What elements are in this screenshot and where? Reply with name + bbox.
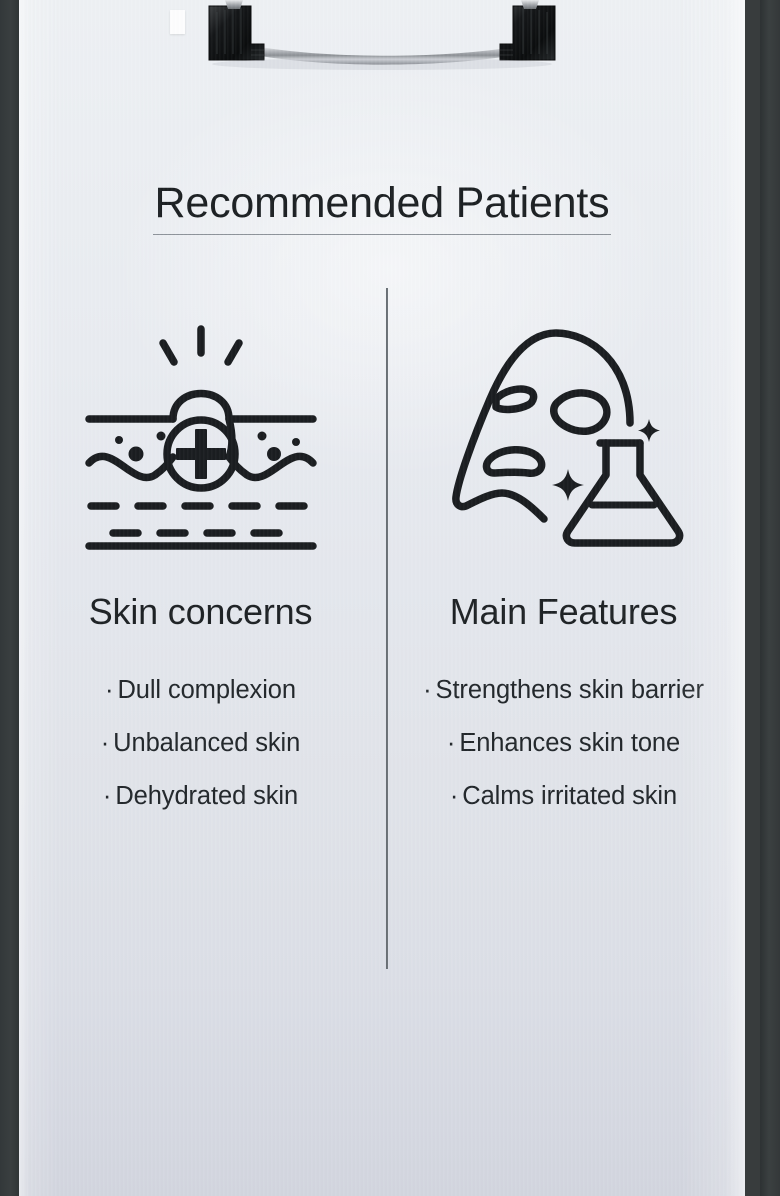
- bullet-marker: ·: [423, 676, 431, 704]
- list-item: ·Calms irritated skin: [450, 782, 677, 810]
- column-title-skin-concerns: Skin concerns: [89, 594, 313, 630]
- column-skin-concerns: Skin concerns ·Dull complexion ·Unbalanc…: [19, 288, 382, 810]
- clipboard-clip: [19, 0, 745, 96]
- list-item-label: Unbalanced skin: [113, 729, 300, 757]
- clipboard-clip-icon: [19, 0, 745, 96]
- main-features-icon-box: [444, 288, 684, 588]
- list-item-label: Calms irritated skin: [462, 782, 677, 810]
- bullet-marker: ·: [105, 676, 113, 704]
- columns-container: Skin concerns ·Dull complexion ·Unbalanc…: [19, 288, 745, 810]
- list-item: ·Dull complexion: [105, 676, 296, 704]
- main-features-list: ·Strengthens skin barrier ·Enhances skin…: [423, 676, 704, 810]
- column-title-main-features: Main Features: [450, 594, 678, 630]
- page-title: Recommended Patients: [153, 182, 612, 235]
- list-item-label: Dehydrated skin: [115, 782, 298, 810]
- list-item-label: Dull complexion: [117, 676, 296, 704]
- left-edge-bar: [0, 0, 20, 1196]
- bullet-marker: ·: [103, 782, 111, 810]
- bullet-marker: ·: [447, 729, 455, 757]
- column-main-features: Main Features ·Strengthens skin barrier …: [382, 288, 745, 810]
- sheet-mask-flask-icon: [444, 323, 684, 553]
- bullet-marker: ·: [450, 782, 458, 810]
- list-item: ·Enhances skin tone: [447, 729, 680, 757]
- list-item: ·Unbalanced skin: [101, 729, 300, 757]
- page-root: Recommended Patients: [0, 0, 780, 1196]
- skin-concerns-icon-box: [81, 288, 321, 588]
- page-title-wrap: Recommended Patients: [19, 182, 745, 235]
- right-edge-bar: [760, 0, 780, 1196]
- list-item: ·Dehydrated skin: [103, 782, 298, 810]
- skin-concerns-list: ·Dull complexion ·Unbalanced skin ·Dehyd…: [101, 676, 300, 810]
- list-item-label: Enhances skin tone: [459, 729, 680, 757]
- list-item-label: Strengthens skin barrier: [436, 676, 704, 704]
- paper-corner-tab: [170, 10, 185, 34]
- list-item: ·Strengthens skin barrier: [423, 676, 704, 704]
- skin-layers-blemish-icon: [81, 323, 321, 553]
- bullet-marker: ·: [101, 729, 109, 757]
- clipboard-paper-sheet: Recommended Patients: [19, 0, 745, 1196]
